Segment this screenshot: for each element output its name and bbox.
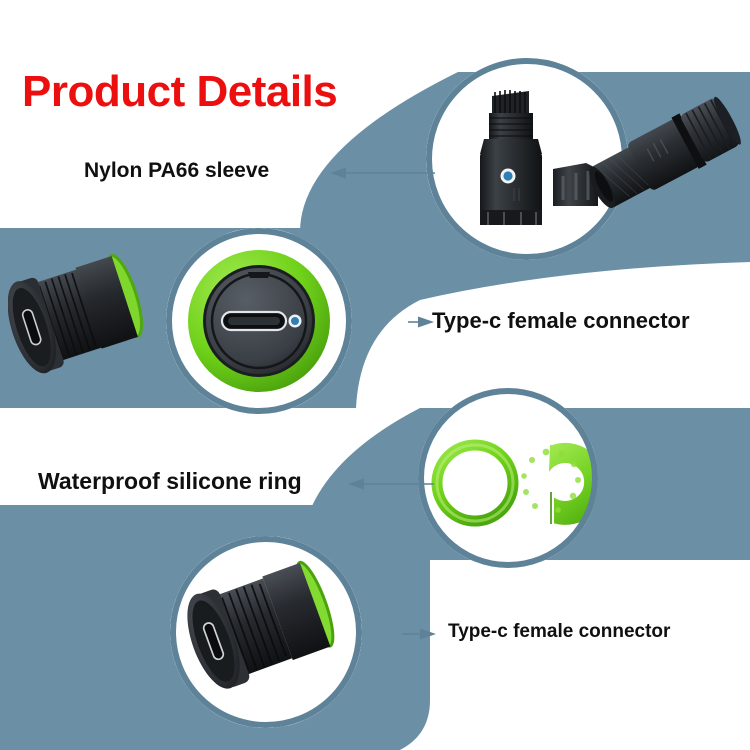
leader-arrow-type-c-top: [408, 314, 434, 330]
callout-type-c-bottom: Type-c female connector: [448, 622, 670, 641]
nylon-sleeve-body: [480, 90, 542, 225]
connector-body-inset: [170, 536, 362, 728]
callout-type-c-top: Type-c female connector: [432, 310, 690, 332]
product-details-infographic: Product Details: [0, 0, 750, 750]
leader-arrow-waterproof-ring: [348, 476, 434, 492]
callout-nylon-sleeve: Nylon PA66 sleeve: [84, 160, 269, 181]
leader-arrow-nylon-sleeve: [330, 165, 435, 181]
type-c-face-inset: [166, 228, 352, 414]
silicone-ring-inset: [418, 388, 598, 568]
callout-waterproof-ring: Waterproof silicone ring: [38, 470, 302, 493]
panel-connector-shot: [8, 248, 158, 393]
leader-arrow-type-c-bottom: [402, 626, 436, 642]
page-title: Product Details: [22, 70, 337, 114]
silicone-o-ring: [437, 445, 513, 521]
assembled-connector-shot: [588, 96, 750, 228]
silicone-slotted-gasket: [510, 442, 598, 525]
